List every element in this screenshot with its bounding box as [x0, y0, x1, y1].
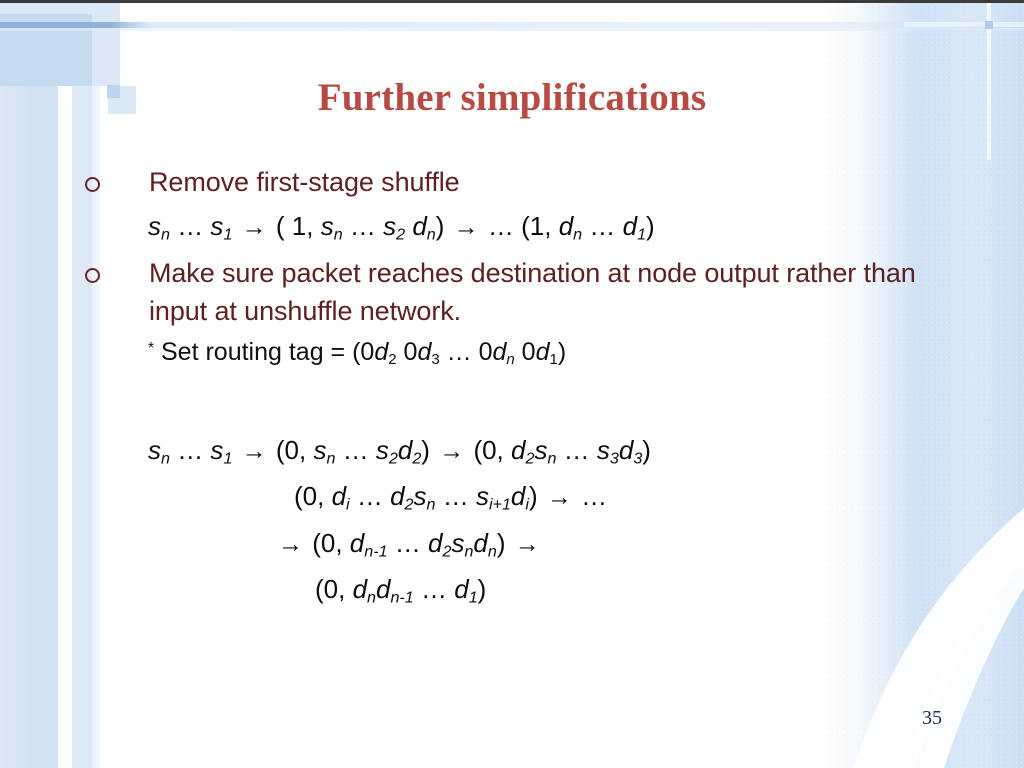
vertical-spacer	[84, 379, 964, 431]
routing-tag-note: * Set routing tag = (0d2 0d3 … 0dn 0d1)	[148, 330, 964, 379]
background-cross-horizontal	[904, 22, 1024, 27]
background-top-left-block-2	[92, 0, 120, 86]
bullet-marker-icon	[84, 254, 149, 298]
page-title: Further simplifications	[0, 75, 1024, 120]
slide-canvas: Further simplifications Remove first-sta…	[0, 0, 1024, 768]
background-top-left-strip	[0, 0, 120, 14]
background-cross-dot	[985, 21, 993, 29]
slide-body: Remove first-stage shuffle sn … s1 → ( 1…	[84, 163, 964, 617]
background-horizontal-rule-soft	[0, 28, 1024, 31]
bullet-item-1-label: Remove first-stage shuffle	[149, 163, 964, 201]
background-horizontal-rule	[0, 22, 1024, 28]
bullet-item-2: Make sure packet reaches destination at …	[84, 254, 964, 330]
derivation-line-1: sn … s1 → (0, sn … s2d2) → (0, d2sn … s3…	[148, 431, 964, 478]
background-top-frame-line	[0, 0, 1024, 3]
bullet-item-2-label: Make sure packet reaches destination at …	[149, 254, 964, 330]
bullet-marker-icon	[84, 163, 149, 207]
derivation-line-3: → (0, dn-1 … d2sndn) →	[148, 524, 964, 571]
bullet-item-1: Remove first-stage shuffle	[84, 163, 964, 207]
derivation-line-4: (0, dndn-1 … d1)	[148, 570, 964, 617]
formula-line-1: sn … s1 → ( 1, sn … s2 dn) → … (1, dn … …	[148, 207, 964, 254]
derivation-line-2: (0, di … d2sn … si+1di) → …	[148, 477, 964, 524]
background-top-left-block	[0, 0, 92, 86]
slide-page-number: 35	[922, 707, 942, 730]
